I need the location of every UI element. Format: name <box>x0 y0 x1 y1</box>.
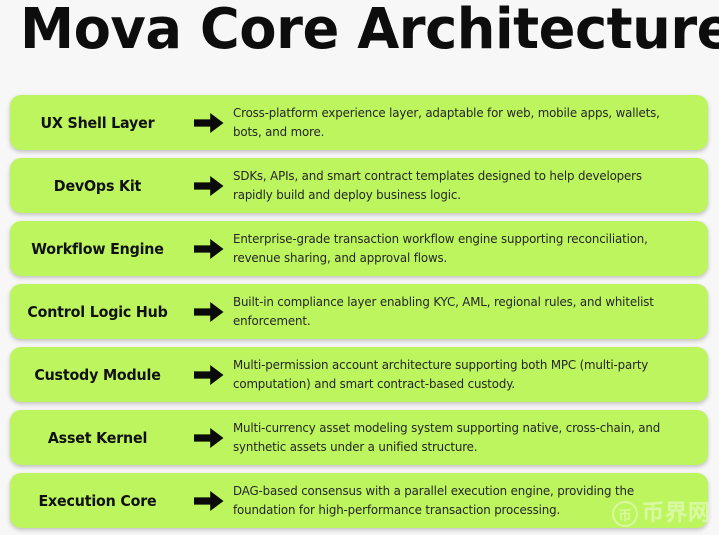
row-label: Asset Kernel <box>14 429 180 447</box>
row-label: UX Shell Layer <box>14 114 180 132</box>
architecture-row[interactable]: Custody ModuleMulti-permission account a… <box>10 347 708 402</box>
architecture-row[interactable]: Control Logic HubBuilt-in compliance lay… <box>10 284 708 339</box>
row-description: Cross-platform experience layer, adaptab… <box>233 104 694 142</box>
architecture-row[interactable]: Asset KernelMulti-currency asset modelin… <box>10 410 708 465</box>
row-label: DevOps Kit <box>14 177 180 195</box>
arrow-right-icon <box>185 488 233 514</box>
row-label: Custody Module <box>14 366 180 384</box>
page-title: Mova Core Architecture <box>20 0 719 62</box>
arrow-right-icon <box>185 299 233 325</box>
architecture-page: Mova Core Architecture UX Shell LayerCro… <box>0 0 719 535</box>
row-label: Control Logic Hub <box>14 303 180 321</box>
architecture-row[interactable]: UX Shell LayerCross-platform experience … <box>10 95 708 150</box>
arrow-right-icon <box>185 236 233 262</box>
row-description: DAG-based consensus with a parallel exec… <box>233 482 694 520</box>
arrow-right-icon <box>185 425 233 451</box>
row-description: Built-in compliance layer enabling KYC, … <box>233 293 694 331</box>
architecture-row[interactable]: Execution CoreDAG-based consensus with a… <box>10 473 708 528</box>
row-label: Execution Core <box>14 492 180 510</box>
row-label: Workflow Engine <box>14 240 180 258</box>
row-description: Multi-permission account architecture su… <box>233 356 694 394</box>
arrow-right-icon <box>185 362 233 388</box>
row-description: Multi-currency asset modeling system sup… <box>233 419 694 457</box>
architecture-row[interactable]: DevOps KitSDKs, APIs, and smart contract… <box>10 158 708 213</box>
row-description: Enterprise-grade transaction workflow en… <box>233 230 694 268</box>
architecture-row[interactable]: Workflow EngineEnterprise-grade transact… <box>10 221 708 276</box>
architecture-layer-list: UX Shell LayerCross-platform experience … <box>10 95 708 535</box>
row-description: SDKs, APIs, and smart contract templates… <box>233 167 694 205</box>
arrow-right-icon <box>185 110 233 136</box>
arrow-right-icon <box>185 173 233 199</box>
